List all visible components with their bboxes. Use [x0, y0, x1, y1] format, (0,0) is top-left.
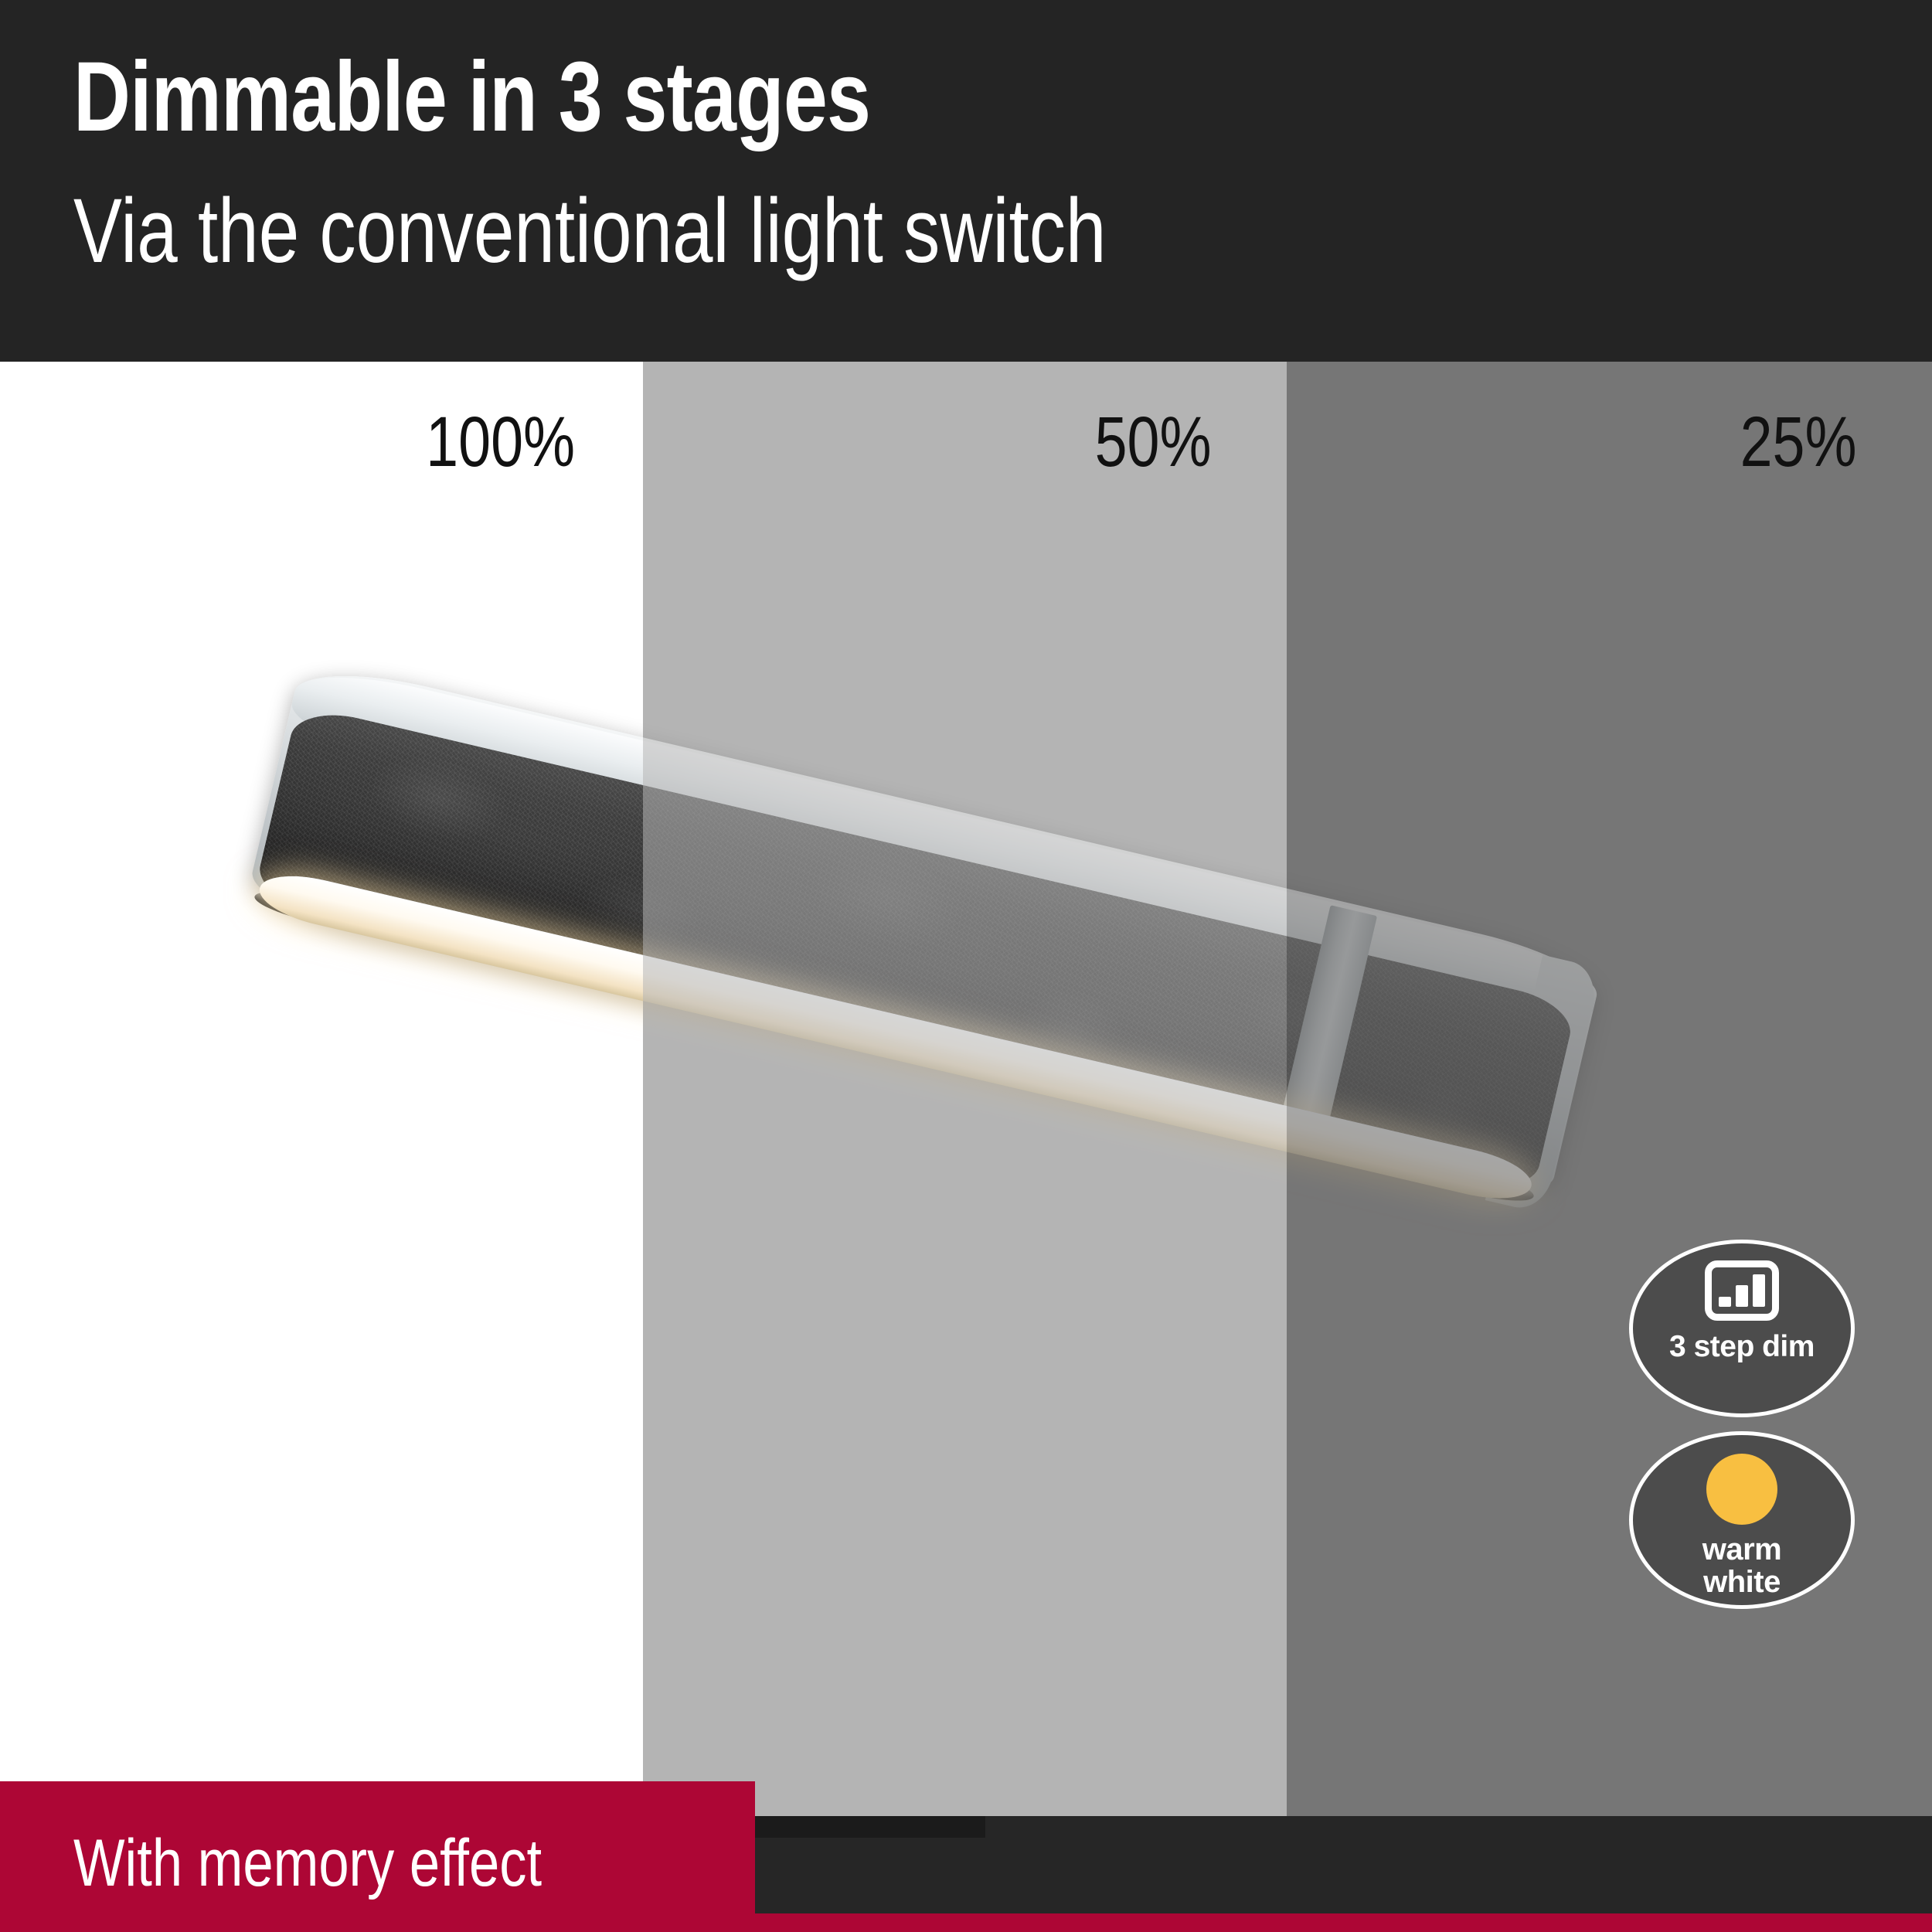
bar-chart-steps-icon: [1705, 1260, 1779, 1321]
bar-level-3: [1753, 1274, 1765, 1307]
page-title: Dimmable in 3 stages: [73, 48, 870, 147]
dim-band-100: [0, 362, 643, 1816]
footer-dark-bar-accent: [753, 1816, 985, 1838]
footer-label: With memory effect: [73, 1825, 542, 1902]
header-bar: Dimmable in 3 stages Via the conventiona…: [0, 0, 1932, 362]
page-subtitle: Via the conventional light switch: [73, 185, 1106, 277]
dim-label-50: 50%: [1095, 402, 1212, 483]
badge-label-warm-white: warm white: [1702, 1534, 1782, 1598]
warm-white-dot-icon: [1706, 1454, 1777, 1525]
badge-label-3-step-dim: 3 step dim: [1669, 1332, 1815, 1363]
bar-level-2: [1736, 1285, 1748, 1307]
dim-label-25: 25%: [1740, 402, 1857, 483]
badge-warm-white: warm white: [1629, 1431, 1855, 1609]
badge-3-step-dim: 3 step dim: [1629, 1240, 1855, 1417]
product-feature-banner: 100% 50% 25% Dimmable in 3 stages Via th…: [0, 0, 1932, 1932]
dim-label-100: 100%: [426, 402, 575, 483]
bar-level-1: [1719, 1297, 1731, 1307]
